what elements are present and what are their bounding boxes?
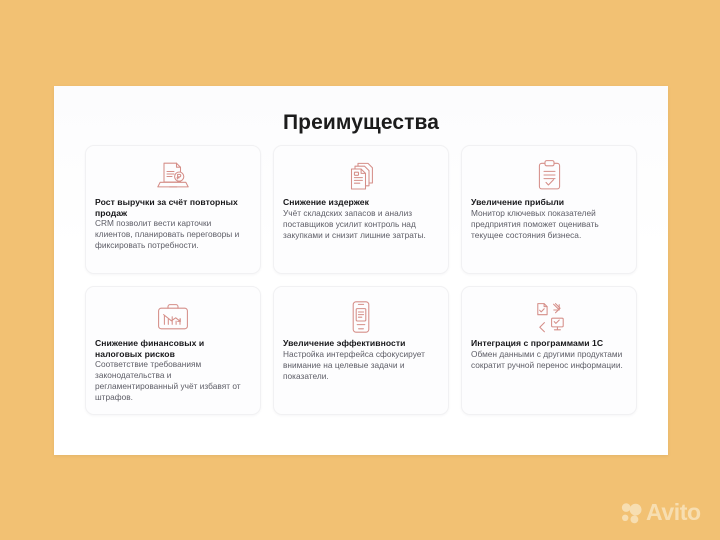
advantage-card-1c-integration[interactable]: Интеграция с программами 1С Обмен данным… xyxy=(461,286,637,415)
stacked-documents-icon xyxy=(283,155,439,196)
advantage-card-text: Соответствие требованиям законодательств… xyxy=(95,359,251,403)
advantage-card-title: Рост выручки за счёт повторных продаж xyxy=(95,197,251,218)
advantage-card-text: Учёт складских запасов и анализ поставщи… xyxy=(283,208,439,241)
data-exchange-sync-icon xyxy=(471,296,627,337)
avito-watermark: Avito xyxy=(620,501,701,524)
smartphone-interface-icon xyxy=(283,296,439,337)
advantage-card-cost-reduction[interactable]: Снижение издержек Учёт складских запасов… xyxy=(273,145,449,274)
advantage-card-text: CRM позволит вести карточки клиентов, пл… xyxy=(95,218,251,251)
advantage-card-title: Увеличение эффективности xyxy=(283,338,439,349)
advantage-card-title: Интеграция с программами 1С xyxy=(471,338,627,349)
advantage-card-efficiency-increase[interactable]: Увеличение эффективности Настройка интер… xyxy=(273,286,449,415)
advantage-card-risk-reduction[interactable]: Снижение финансовых и налоговых рисков С… xyxy=(85,286,261,415)
advantage-card-revenue-growth[interactable]: Рост выручки за счёт повторных продаж CR… xyxy=(85,145,261,274)
avito-wordmark: Avito xyxy=(646,501,701,524)
laptop-document-ruble-icon xyxy=(95,155,251,196)
advantages-panel: Преимущества Рост выручки за счёт повтор xyxy=(54,86,668,455)
clipboard-checklist-icon xyxy=(471,155,627,196)
advantage-card-text: Настройка интерфейса сфокусирует внимани… xyxy=(283,349,439,382)
avito-logo-icon xyxy=(620,502,642,524)
advantage-card-text: Монитор ключевых показателей предприятия… xyxy=(471,208,627,241)
advantage-card-title: Снижение издержек xyxy=(283,197,439,208)
advantage-card-text: Обмен данными с другими продуктами сокра… xyxy=(471,349,627,371)
screenshot-canvas: Преимущества Рост выручки за счёт повтор xyxy=(0,0,720,540)
briefcase-declining-chart-icon xyxy=(95,296,251,337)
advantage-card-title: Увеличение прибыли xyxy=(471,197,627,208)
advantage-card-title: Снижение финансовых и налоговых рисков xyxy=(95,338,251,359)
advantages-card-grid: Рост выручки за счёт повторных продаж CR… xyxy=(85,145,638,415)
page-title: Преимущества xyxy=(54,86,668,135)
advantage-card-profit-increase[interactable]: Увеличение прибыли Монитор ключевых пока… xyxy=(461,145,637,274)
